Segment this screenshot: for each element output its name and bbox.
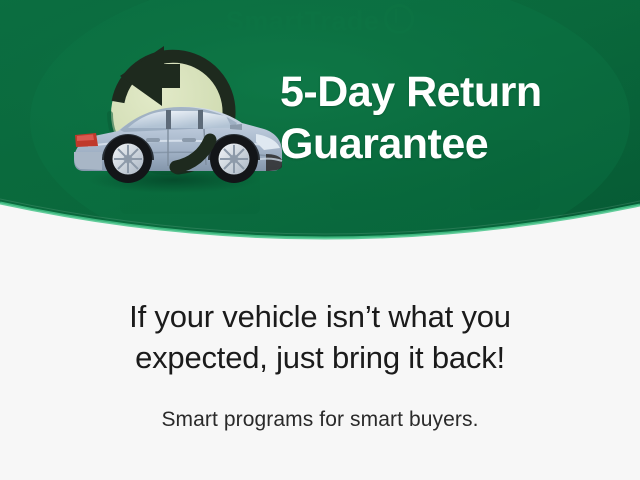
page-title: 5-Day Return Guarantee <box>280 66 630 171</box>
headline-line-1: 5-Day Return <box>280 66 630 118</box>
subheadline-line-2: expected, just bring it back! <box>0 337 640 378</box>
rear-wheel-icon <box>104 135 152 183</box>
return-guarantee-artwork <box>58 28 288 208</box>
tagline: Smart programs for smart buyers. <box>0 408 640 432</box>
body-copy: If your vehicle isn’t what you expected,… <box>0 296 640 432</box>
subheadline-line-1: If your vehicle isn’t what you <box>0 296 640 337</box>
front-wheel-icon <box>210 135 258 183</box>
return-guarantee-banner: SmartTrade <box>0 0 640 480</box>
subheadline: If your vehicle isn’t what you expected,… <box>0 296 640 378</box>
hero-panel: SmartTrade <box>0 0 640 270</box>
headline-line-2: Guarantee <box>280 118 630 170</box>
